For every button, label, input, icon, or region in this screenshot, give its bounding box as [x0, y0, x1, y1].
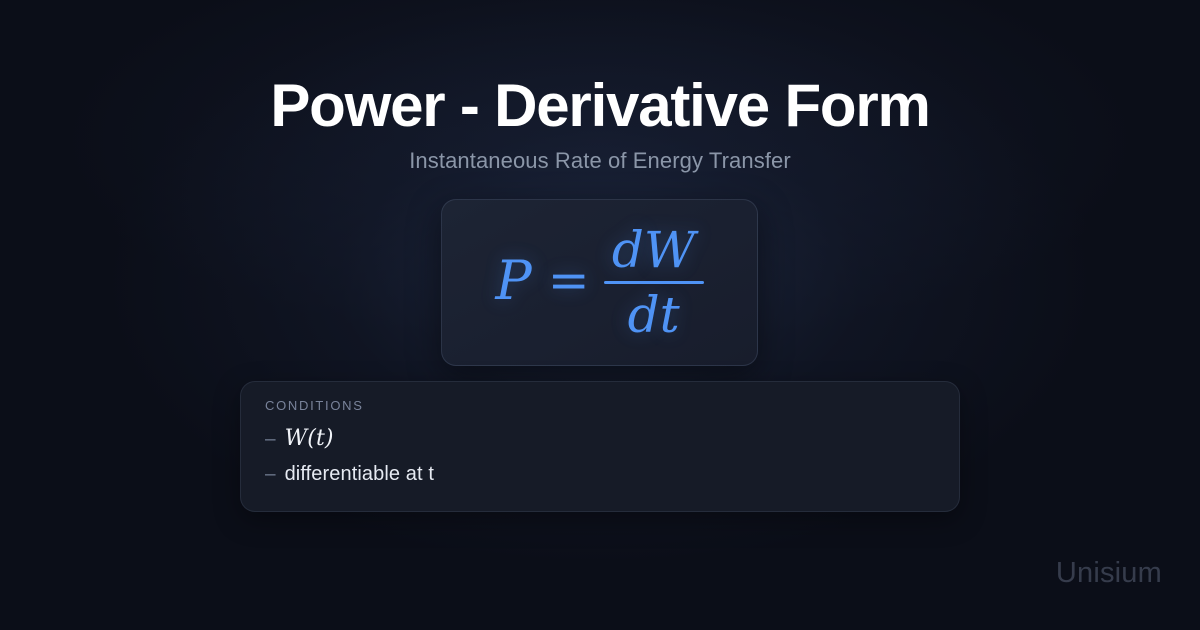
formula-fraction: dW dt — [604, 225, 704, 340]
conditions-list: – W(t) – differentiable at t — [265, 426, 935, 486]
conditions-card: CONDITIONS – W(t) – differentiable at t — [240, 381, 960, 512]
formula-numerator: dW — [604, 225, 703, 275]
page-title: Power - Derivative Form — [0, 74, 1200, 137]
formula-lhs: P — [495, 254, 531, 312]
fraction-bar-icon — [604, 281, 704, 284]
formula-equals-sign: = — [548, 255, 590, 311]
list-item: – differentiable at t — [265, 463, 935, 486]
dash-bullet-icon: – — [265, 465, 276, 484]
brand-watermark: Unisium — [1056, 557, 1162, 590]
formula-expression: P = dW dt — [495, 225, 703, 340]
condition-text: differentiable at t — [285, 463, 434, 486]
dash-bullet-icon: – — [265, 430, 276, 449]
conditions-label: CONDITIONS — [265, 398, 935, 413]
slide-canvas: Power - Derivative Form Instantaneous Ra… — [0, 0, 1200, 630]
page-subtitle: Instantaneous Rate of Energy Transfer — [0, 148, 1200, 174]
header: Power - Derivative Form Instantaneous Ra… — [0, 74, 1200, 174]
formula-denominator: dt — [620, 290, 688, 340]
formula-card: P = dW dt — [441, 199, 758, 366]
list-item: – W(t) — [265, 426, 935, 451]
condition-text: W(t) — [285, 426, 334, 451]
